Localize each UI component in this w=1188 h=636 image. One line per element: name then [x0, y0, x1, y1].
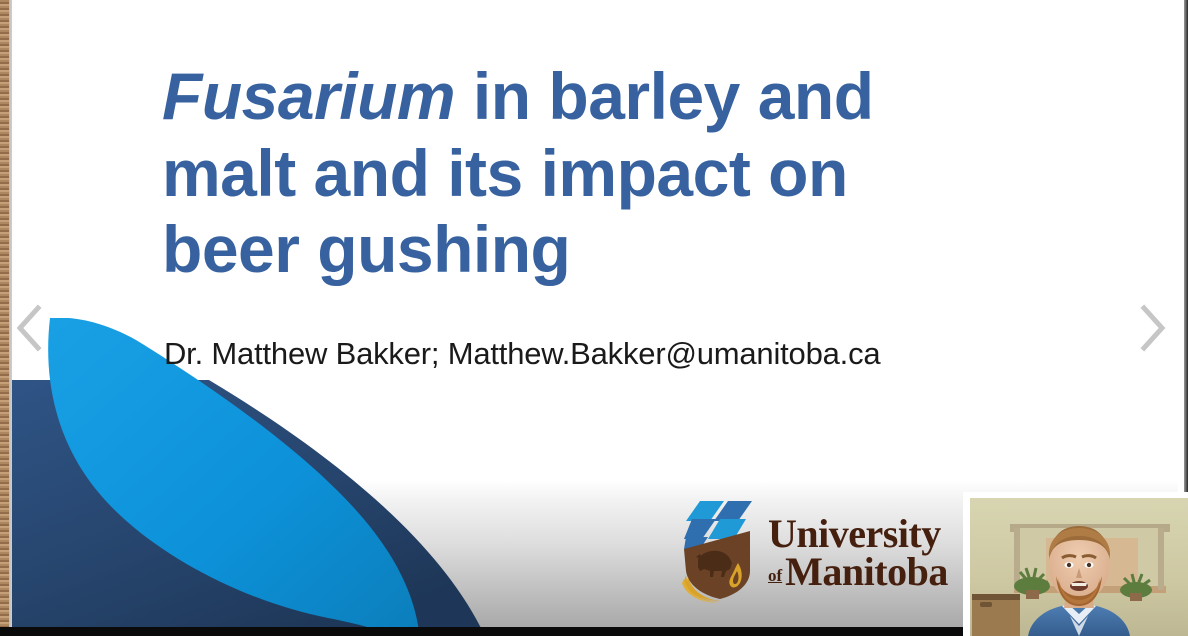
previous-slide-button[interactable]: [8, 300, 52, 356]
slide-viewer[interactable]: Fusarium in barley and malt and its impa…: [0, 0, 1188, 636]
title-line2: malt and its impact on: [162, 136, 848, 210]
wordmark-row2: of Manitoba: [768, 553, 948, 591]
slide-subtitle: Dr. Matthew Bakker; Matthew.Bakker@umani…: [164, 336, 880, 372]
title-line3: beer gushing: [162, 212, 570, 286]
bison-crest-icon: [680, 497, 758, 603]
university-wordmark: University of Manitoba: [768, 509, 948, 591]
wordmark-of: of: [768, 568, 782, 584]
webcam-video-feed: [970, 498, 1188, 636]
presenter-webcam[interactable]: [963, 492, 1188, 636]
left-border-line: [9, 0, 12, 636]
wordmark-manitoba: Manitoba: [785, 553, 948, 591]
university-of-manitoba-logo: University of Manitoba: [680, 494, 952, 606]
next-slide-button[interactable]: [1130, 300, 1174, 356]
page-title: Fusarium in barley and malt and its impa…: [162, 58, 1022, 288]
chevron-right-icon: [1130, 300, 1174, 356]
chevron-left-icon: [8, 300, 52, 356]
title-genus-italic: Fusarium: [162, 59, 455, 133]
title-line1-rest: in barley and: [455, 59, 873, 133]
left-edge-texture-strip: [0, 0, 9, 636]
wordmark-university: University: [768, 515, 948, 553]
slide-title-block: Fusarium in barley and malt and its impa…: [162, 58, 1022, 288]
